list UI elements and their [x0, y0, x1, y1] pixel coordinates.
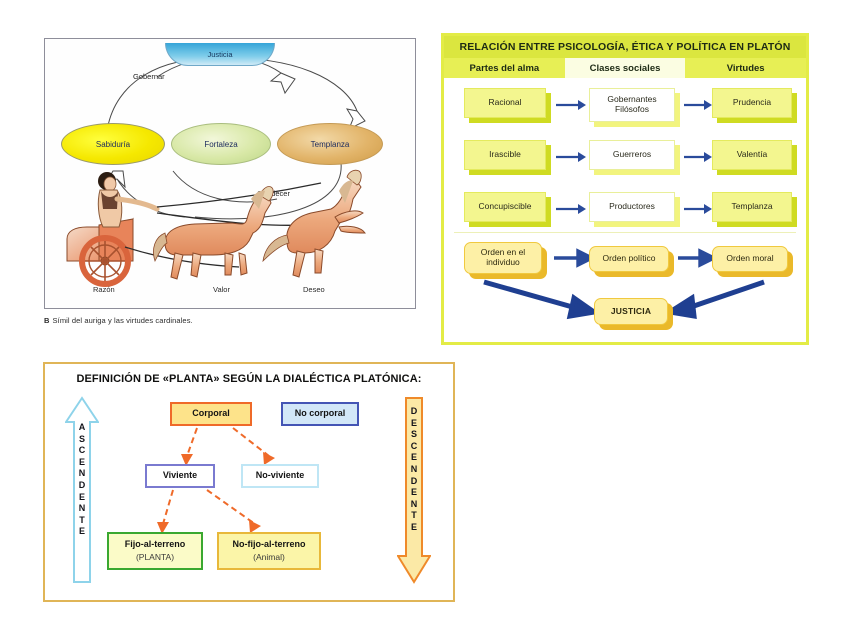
platon-relation-panel: RELACIÓN ENTRE PSICOLOGÍA, ÉTICA Y POLÍT…	[441, 33, 809, 345]
arrow-clase-to-virtud-2	[684, 204, 712, 214]
arrow-alma-to-clase-0	[556, 100, 586, 110]
label-no-corporal: No corporal	[295, 408, 346, 419]
platon-rows: Racional Gobernantes Filósofos Prudencia…	[444, 78, 806, 248]
order-label-moral: Orden moral	[726, 254, 773, 264]
column-header-virtudes: Virtudes	[685, 58, 806, 78]
caption-letter: B	[44, 316, 50, 325]
planta-title: DEFINICIÓN DE «PLANTA» SEGÚN LA DIALÉCTI…	[45, 373, 453, 385]
label-animal-sub: (Animal)	[253, 552, 285, 563]
chariot-illustration	[53, 169, 405, 287]
label-no-viviente: No-viviente	[256, 470, 305, 481]
clase-box-guerreros: Guerreros	[589, 140, 675, 170]
platon-title: RELACIÓN ENTRE PSICOLOGÍA, ÉTICA Y POLÍT…	[444, 36, 806, 58]
concept-box-no-viviente: No-viviente	[241, 464, 319, 488]
chariot-diagram-panel: Justicia Sabiduría Fortaleza Templanza G…	[44, 38, 416, 309]
virtud-label-2: Templanza	[731, 202, 772, 212]
flow-label-gobernar: Gobernar	[133, 72, 165, 81]
order-box-moral: Orden moral	[712, 246, 788, 272]
virtue-ellipse-templanza: Templanza	[277, 123, 383, 165]
virtue-label-fortaleza: Fortaleza	[204, 140, 237, 149]
order-box-politico: Orden político	[589, 246, 669, 272]
label-planta-sub: (PLANTA)	[136, 552, 174, 563]
justicia-label: Justicia	[207, 50, 232, 59]
clase-label-1: Guerreros	[613, 150, 651, 160]
clase-box-gobernantes: Gobernantes Filósofos	[589, 88, 675, 122]
virtud-label-1: Valentía	[737, 150, 768, 160]
clase-label-0: Gobernantes Filósofos	[590, 95, 674, 114]
alma-label-2: Concupiscible	[479, 202, 532, 212]
label-no-fijo-al-terreno: No-fijo-al-terreno	[233, 539, 306, 550]
table-row: Racional Gobernantes Filósofos Prudencia	[444, 88, 806, 140]
column-header-clases-sociales: Clases sociales	[565, 58, 686, 78]
foot-label-razon: Razón	[93, 285, 115, 294]
alma-label-1: Irascible	[489, 150, 521, 160]
table-row: Irascible Guerreros Valentía	[444, 140, 806, 192]
virtue-ellipse-sabiduria: Sabiduría	[61, 123, 165, 165]
foot-label-deseo: Deseo	[303, 285, 325, 294]
virtud-label-0: Prudencia	[733, 98, 771, 108]
descendente-label: DESCENDENTE	[397, 406, 431, 534]
label-corporal: Corporal	[192, 408, 230, 419]
order-section: Orden en el individuo Orden político Ord…	[444, 236, 806, 341]
concept-box-no-corporal: No corporal	[281, 402, 359, 426]
section-divider	[454, 232, 796, 233]
alma-box-irascible: Irascible	[464, 140, 546, 170]
concept-box-no-fijo-al-terreno: No-fijo-al-terreno (Animal)	[217, 532, 321, 570]
justicia-banner: Justicia	[165, 43, 275, 66]
alma-label-0: Racional	[488, 98, 521, 108]
virtue-label-sabiduria: Sabiduría	[96, 140, 130, 149]
virtud-box-templanza: Templanza	[712, 192, 792, 222]
clase-label-2: Productores	[609, 202, 655, 212]
foot-label-valor: Valor	[213, 285, 230, 294]
clase-box-productores: Productores	[589, 192, 675, 222]
arrow-alma-to-clase-1	[556, 152, 586, 162]
alma-box-concupiscible: Concupiscible	[464, 192, 546, 222]
virtud-box-prudencia: Prudencia	[712, 88, 792, 118]
arrow-clase-to-virtud-1	[684, 152, 712, 162]
concept-box-fijo-al-terreno: Fijo-al-terreno (PLANTA)	[107, 532, 203, 570]
virtue-label-templanza: Templanza	[311, 140, 350, 149]
order-label-individuo: Orden en el individuo	[465, 248, 541, 267]
virtue-ellipse-fortaleza: Fortaleza	[171, 123, 271, 165]
ascendente-label: ASCENDENTE	[65, 422, 99, 538]
caption-text: Símil del auriga y las virtudes cardinal…	[53, 316, 193, 325]
ascendente-arrow: ASCENDENTE	[65, 396, 99, 584]
order-label-justicia: JUSTICIA	[611, 307, 651, 317]
label-fijo-al-terreno: Fijo-al-terreno	[125, 539, 186, 550]
label-viviente: Viviente	[163, 470, 197, 481]
column-header-partes-del-alma: Partes del alma	[444, 58, 565, 78]
arrow-clase-to-virtud-0	[684, 100, 712, 110]
virtud-box-valentia: Valentía	[712, 140, 792, 170]
platon-column-headers: Partes del alma Clases sociales Virtudes	[444, 58, 806, 78]
alma-box-racional: Racional	[464, 88, 546, 118]
concept-box-viviente: Viviente	[145, 464, 215, 488]
order-box-individuo: Orden en el individuo	[464, 242, 542, 274]
planta-dialectic-panel: DEFINICIÓN DE «PLANTA» SEGÚN LA DIALÉCTI…	[43, 362, 455, 602]
order-label-politico: Orden político	[603, 254, 656, 264]
arrow-alma-to-clase-2	[556, 204, 586, 214]
chariot-caption: BSímil del auriga y las virtudes cardina…	[44, 316, 416, 325]
descendente-arrow: DESCENDENTE	[397, 396, 431, 584]
concept-box-corporal: Corporal	[170, 402, 252, 426]
order-box-justicia: JUSTICIA	[594, 298, 668, 325]
